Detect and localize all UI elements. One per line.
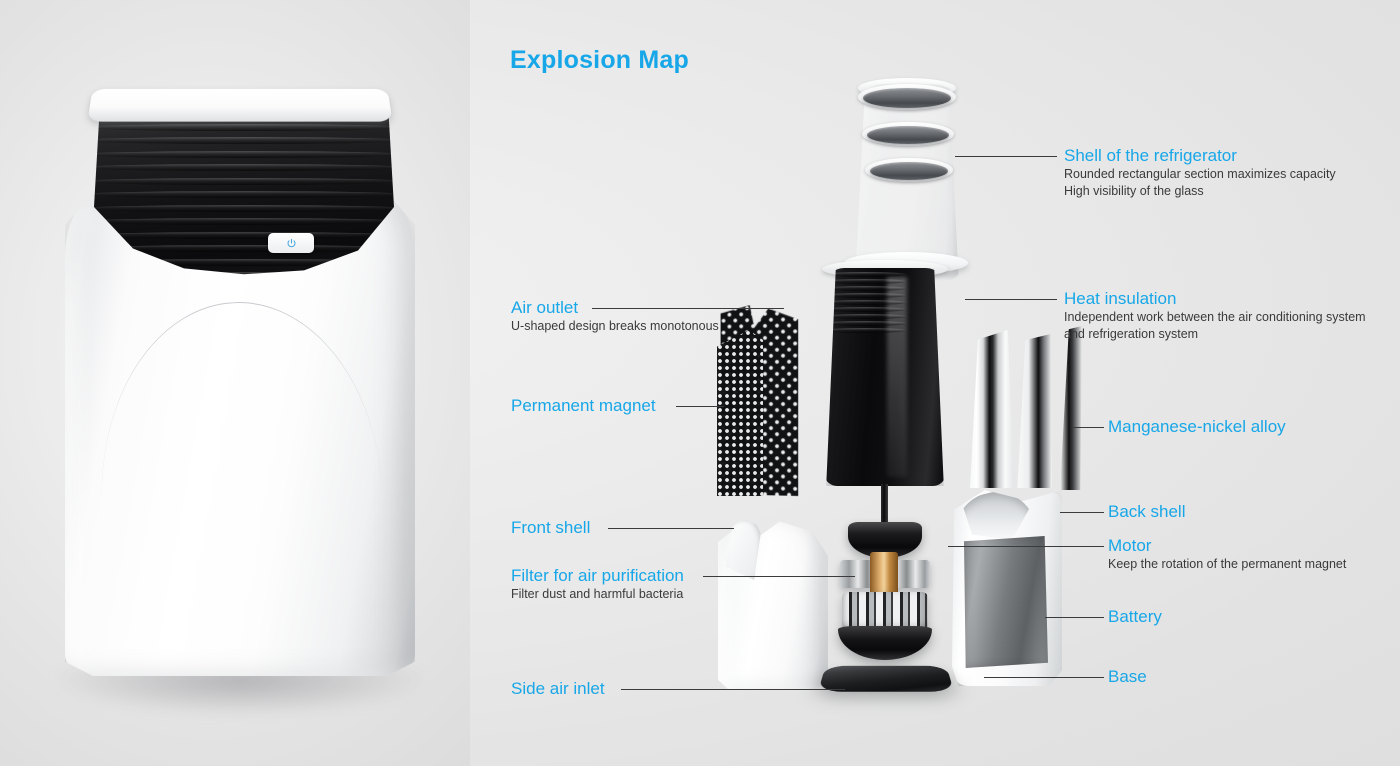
insulation-rib [825, 293, 907, 298]
callout-title: Side air inlet [511, 678, 605, 699]
callout-title: Filter for air purification [511, 565, 684, 586]
louver-fin [94, 191, 394, 198]
callout-title: Manganese-nickel alloy [1108, 416, 1286, 437]
callout-base[interactable]: Base [1108, 666, 1147, 687]
callout-heat-insulation[interactable]: Heat insulation Independent work between… [1064, 288, 1366, 343]
louver-fin [94, 124, 394, 131]
louver-fin [94, 137, 394, 144]
louver-fin [94, 218, 394, 225]
product-photo-panel [0, 0, 470, 766]
glass-shelf-1 [863, 88, 951, 108]
leader-line-battery [1045, 617, 1104, 618]
callout-title: Battery [1108, 606, 1162, 627]
insulation-rib [825, 300, 907, 305]
callout-title: Base [1108, 666, 1147, 687]
part-permanent-magnet-mesh[interactable] [717, 330, 763, 496]
leader-line-filter-for-air-purification [703, 576, 855, 577]
insulation-rib [825, 328, 907, 333]
motor-shaft [881, 484, 888, 524]
leader-line-front-shell [608, 528, 734, 529]
motor-lower-housing [838, 626, 932, 660]
leader-line-heat-insulation [965, 299, 1057, 300]
louver-fin [94, 178, 394, 185]
power-icon [286, 238, 297, 249]
product-top-cap [87, 89, 392, 122]
leader-line-manganese-nickel-alloy [1072, 427, 1104, 428]
insulation-rib [825, 321, 907, 326]
part-shell-of-the-refrigerator[interactable] [852, 84, 962, 280]
part-heat-insulation[interactable] [825, 268, 945, 486]
callout-back-shell[interactable]: Back shell [1108, 501, 1185, 522]
leader-line-shell-of-the-refrigerator [955, 156, 1057, 157]
insulation-rib [825, 286, 907, 291]
part-manganese-nickel-alloy-strip-2[interactable] [1016, 334, 1052, 488]
callout-desc-line-1: U-shaped design breaks monotonous [511, 318, 719, 335]
callout-motor[interactable]: Motor Keep the rotation of the permanent… [1108, 535, 1346, 573]
callout-title: Front shell [511, 517, 590, 538]
part-base[interactable] [818, 666, 954, 692]
leader-line-base [984, 677, 1104, 678]
callout-desc-line-2: and refrigeration system [1064, 326, 1366, 343]
callout-desc-line-1: Rounded rectangular section maximizes ca… [1064, 166, 1336, 183]
insulation-rib [825, 307, 907, 312]
callout-desc-line-2: High visibility of the glass [1064, 183, 1336, 200]
glass-shelf-2 [867, 126, 949, 144]
exploded-assembly-diagram [470, 0, 1400, 766]
part-battery[interactable] [964, 536, 1048, 668]
slide-canvas: Explosion Map [0, 0, 1400, 766]
louver-fin [94, 205, 394, 212]
leader-line-permanent-magnet [676, 406, 724, 407]
callout-title: Heat insulation [1064, 288, 1366, 309]
callout-desc-line-1: Independent work between the air conditi… [1064, 309, 1366, 326]
leader-line-back-shell [1060, 512, 1104, 513]
leader-line-side-air-inlet [621, 689, 845, 690]
louver-fin [94, 151, 394, 158]
callout-title: Back shell [1108, 501, 1185, 522]
glass-shelf-3 [870, 162, 948, 180]
callout-title: Motor [1108, 535, 1346, 556]
callout-battery[interactable]: Battery [1108, 606, 1162, 627]
callout-manganese-nickel-alloy[interactable]: Manganese-nickel alloy [1108, 416, 1286, 437]
part-manganese-nickel-alloy-strip-3[interactable] [1060, 326, 1082, 490]
part-manganese-nickel-alloy-strip-1[interactable] [970, 330, 1014, 488]
callout-filter-for-air-purification[interactable]: Filter for air purification Filter dust … [511, 565, 684, 603]
callout-air-outlet[interactable]: Air outlet U-shaped design breaks monoto… [511, 297, 719, 335]
callout-desc-line-1: Keep the rotation of the permanent magne… [1108, 556, 1346, 573]
insulation-rib [825, 279, 907, 284]
callout-front-shell[interactable]: Front shell [511, 517, 590, 538]
leader-line-air-outlet [592, 308, 784, 309]
callout-title: Permanent magnet [511, 395, 656, 416]
power-button[interactable] [268, 233, 314, 253]
callout-desc-line-1: Filter dust and harmful bacteria [511, 586, 684, 603]
callout-shell-of-the-refrigerator[interactable]: Shell of the refrigerator Rounded rectan… [1064, 145, 1336, 200]
callout-title: Shell of the refrigerator [1064, 145, 1336, 166]
leader-line-motor [948, 546, 1104, 547]
louver-fin [94, 164, 394, 171]
insulation-rib [825, 272, 907, 277]
callout-side-air-inlet[interactable]: Side air inlet [511, 678, 605, 699]
louver-fin [94, 232, 394, 239]
insulation-rib [825, 314, 907, 319]
callout-permanent-magnet[interactable]: Permanent magnet [511, 395, 656, 416]
